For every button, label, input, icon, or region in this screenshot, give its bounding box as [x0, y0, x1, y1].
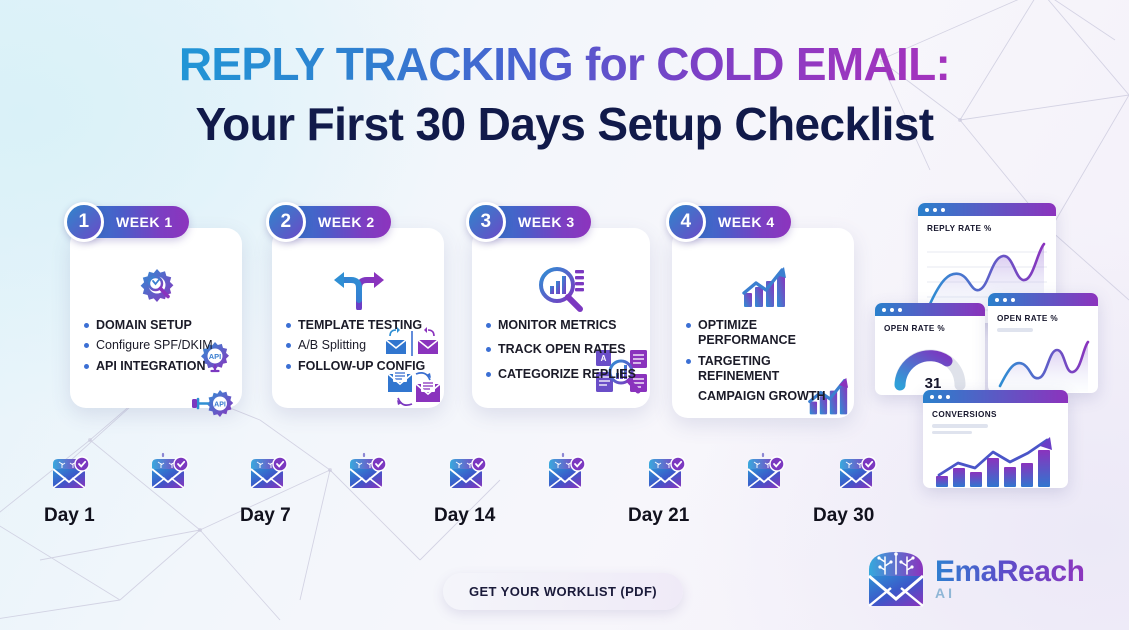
window-dot-icon [882, 308, 886, 312]
split-arrows-icon [284, 262, 434, 314]
week-number-2: 2 [266, 202, 306, 242]
window-dot-icon [941, 208, 945, 212]
list-item: FOLLOW-UP CONFIG [284, 359, 434, 374]
week-card-2[interactable]: WEEK 2 2 TEMPLATE TESTING A/B Splitting … [272, 228, 444, 408]
window-dot-icon [995, 298, 999, 302]
week-number-4: 4 [666, 202, 706, 242]
dashboard-body: OPEN RATE % [988, 306, 1098, 393]
window-dot-icon [898, 308, 902, 312]
window-title-bar [875, 303, 985, 316]
timeline-label-day-14: Day 14 [434, 505, 495, 527]
dashboard-title: OPEN RATE % [997, 314, 1089, 323]
skeleton-line [932, 424, 988, 428]
chart-magnifier-icon [484, 262, 640, 314]
dashboard-body: CONVERSIONS [923, 403, 1068, 488]
window-dot-icon [925, 208, 929, 212]
timeline-label-day-21: Day 21 [628, 505, 689, 527]
week-badge-4: WEEK 4 4 [678, 206, 791, 238]
week-label-4: WEEK 4 [718, 214, 775, 230]
list-item: A/B Splitting [284, 338, 434, 353]
week-card-3[interactable]: WEEK 3 3 MONITOR METRICS TRACK OPEN RATE… [472, 228, 650, 408]
title-line-1: REPLY TRACKING for COLD EMAIL: [179, 40, 950, 89]
growth-chart-arrow-icon [684, 262, 844, 314]
page-title: REPLY TRACKING for COLD EMAIL: Your Firs… [0, 40, 1129, 149]
list-item: Configure SPF/DKIM [82, 338, 232, 353]
timeline-nodes [53, 457, 876, 488]
list-item: TEMPLATE TESTING [284, 318, 434, 333]
week-number-1: 1 [64, 202, 104, 242]
ai-envelope-check-icon [549, 457, 585, 488]
dashboard-card-open-rate-gauge[interactable]: OPEN RATE % 31 [875, 303, 985, 395]
window-title-bar [918, 203, 1056, 216]
list-item: TRACK OPEN RATES [484, 342, 640, 357]
ai-envelope-check-icon [251, 457, 287, 488]
envelope-followup-icon [386, 368, 442, 410]
logo-text: EmaReach AI [935, 558, 1084, 599]
logo-sub: AI [935, 587, 1084, 600]
window-dot-icon [1011, 298, 1015, 302]
gear-magnifier-icon [82, 262, 232, 314]
dashboard-title: REPLY RATE % [927, 224, 1047, 233]
week-number-3: 3 [466, 202, 506, 242]
skeleton-line [997, 328, 1033, 332]
window-dot-icon [938, 395, 942, 399]
week-label-1: WEEK 1 [116, 214, 173, 230]
ai-envelope-check-icon [748, 457, 784, 488]
list-item: DOMAIN SETUP [82, 318, 232, 333]
dashboard-body: OPEN RATE % 31 [875, 316, 985, 395]
ai-envelope-check-icon [450, 457, 486, 488]
window-dot-icon [1003, 298, 1007, 302]
week-badge-1: WEEK 1 1 [76, 206, 189, 238]
window-dot-icon [930, 395, 934, 399]
dashboard-card-conversions[interactable]: CONVERSIONS [923, 390, 1068, 488]
window-title-bar [988, 293, 1098, 306]
week-2-items: TEMPLATE TESTING A/B Splitting FOLLOW-UP… [284, 318, 434, 374]
list-item: TARGETING REFINEMENT [684, 354, 844, 385]
timeline-label-day-1: Day 1 [44, 505, 95, 527]
bar-chart-arrow [932, 436, 1060, 488]
week-label-3: WEEK 3 [518, 214, 575, 230]
ai-envelope-check-icon [152, 457, 188, 488]
list-item: OPTIMIZE PERFORMANCE [684, 318, 844, 349]
week-badge-3: WEEK 3 3 [478, 206, 591, 238]
dashboard-card-open-rate-area[interactable]: OPEN RATE % [988, 293, 1098, 393]
window-title-bar [923, 390, 1068, 403]
logo-name: EmaReach [935, 558, 1084, 586]
dashboard-title: CONVERSIONS [932, 410, 1059, 419]
window-dot-icon [946, 395, 950, 399]
week-4-items: OPTIMIZE PERFORMANCE TARGETING REFINEMEN… [684, 318, 844, 404]
gauge-chart: 31 [884, 339, 976, 395]
window-dot-icon [933, 208, 937, 212]
timeline-label-day-7: Day 7 [240, 505, 291, 527]
svg-text:API: API [214, 402, 226, 409]
emareach-envelope-brain-icon [865, 548, 927, 610]
week-3-items: MONITOR METRICS TRACK OPEN RATES CATEGOR… [484, 318, 640, 382]
ai-envelope-check-icon [840, 457, 876, 488]
api-plug-gear-icon: API [190, 386, 238, 422]
ai-envelope-check-icon [649, 457, 685, 488]
week-card-4[interactable]: WEEK 4 4 OPTIMIZE PERFORMANCE TARGETING … [672, 228, 854, 418]
skeleton-line [932, 431, 972, 435]
list-item: MONITOR METRICS [484, 318, 640, 333]
area-chart [997, 336, 1091, 392]
week-1-items: DOMAIN SETUP Configure SPF/DKIM API INTE… [82, 318, 232, 374]
ai-envelope-check-icon [350, 457, 386, 488]
get-worklist-button[interactable]: GET YOUR WORKLIST (PDF) [443, 573, 683, 610]
list-item: API INTEGRATION [82, 359, 232, 374]
week-label-2: WEEK 2 [318, 214, 375, 230]
emareach-logo: EmaReach AI [865, 548, 1084, 610]
window-dot-icon [890, 308, 894, 312]
week-card-1[interactable]: WEEK 1 1 DOMAIN SETUP Configure SPF/DKIM… [70, 228, 242, 408]
dashboard-title: OPEN RATE % [884, 324, 976, 333]
list-item: CATEGORIZE REPLIES [484, 367, 640, 382]
ai-envelope-check-icon [53, 457, 89, 488]
title-line-2: Your First 30 Days Setup Checklist [0, 99, 1129, 150]
timeline-label-day-30: Day 30 [813, 505, 874, 527]
list-item: CAMPAIGN GROWTH [684, 389, 844, 404]
week-badge-2: WEEK 2 2 [278, 206, 391, 238]
